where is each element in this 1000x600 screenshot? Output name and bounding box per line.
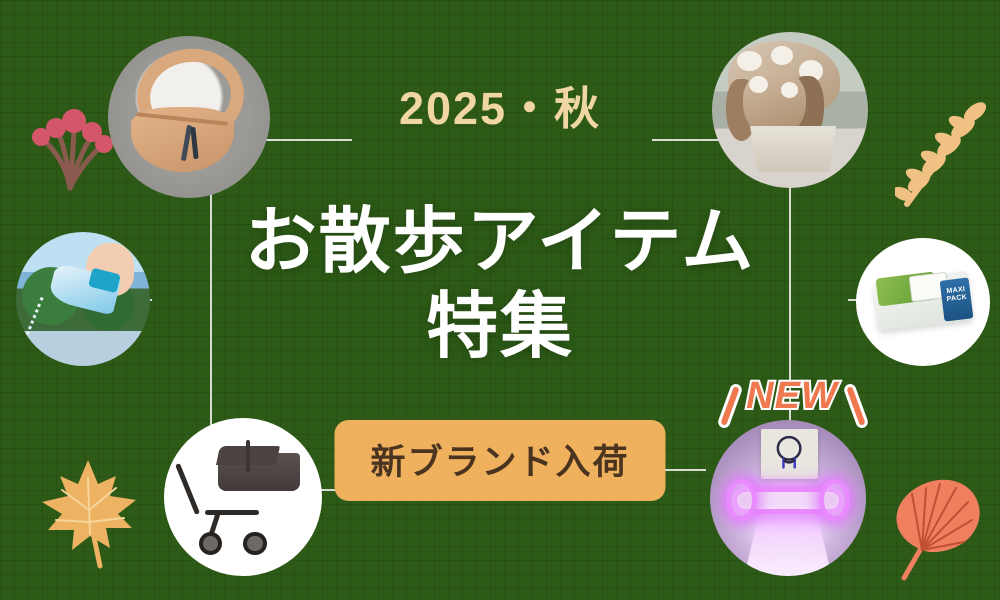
- bulb-card: [761, 429, 817, 479]
- neon-photo: [710, 420, 866, 576]
- photo-neon-bone-sign[interactable]: [710, 420, 866, 576]
- maple-leaf-icon: [32, 448, 144, 572]
- dog-spot: [737, 51, 762, 71]
- neon-glow-floor: [744, 517, 831, 576]
- ginkgo-leaf-icon: [882, 458, 994, 582]
- stroller-pole: [246, 440, 250, 472]
- stroller-handle: [175, 463, 200, 515]
- promo-banner: MAXI PACK: [0, 0, 1000, 600]
- neon-bone-knob-right: [819, 479, 850, 521]
- season-label: 2025・秋: [0, 72, 1000, 137]
- headline-line-1: お散歩アイテム: [245, 202, 756, 282]
- stroller-wheel-rear: [243, 532, 267, 556]
- lightbulb-icon: [761, 429, 817, 479]
- new-brand-badge[interactable]: 新ブランド入荷: [334, 420, 665, 501]
- neon-bone-knob-left: [726, 479, 757, 521]
- dog-spot: [771, 46, 793, 65]
- stroller-wheel-front: [199, 532, 223, 556]
- new-badge: NEW: [712, 372, 872, 420]
- photo-pet-stroller[interactable]: [164, 418, 322, 576]
- headline-line-2: 特集: [0, 285, 1000, 370]
- stroller-frame: [205, 510, 259, 515]
- stroller-photo: [164, 418, 322, 576]
- page-title: お散歩アイテム 特集: [0, 200, 1000, 370]
